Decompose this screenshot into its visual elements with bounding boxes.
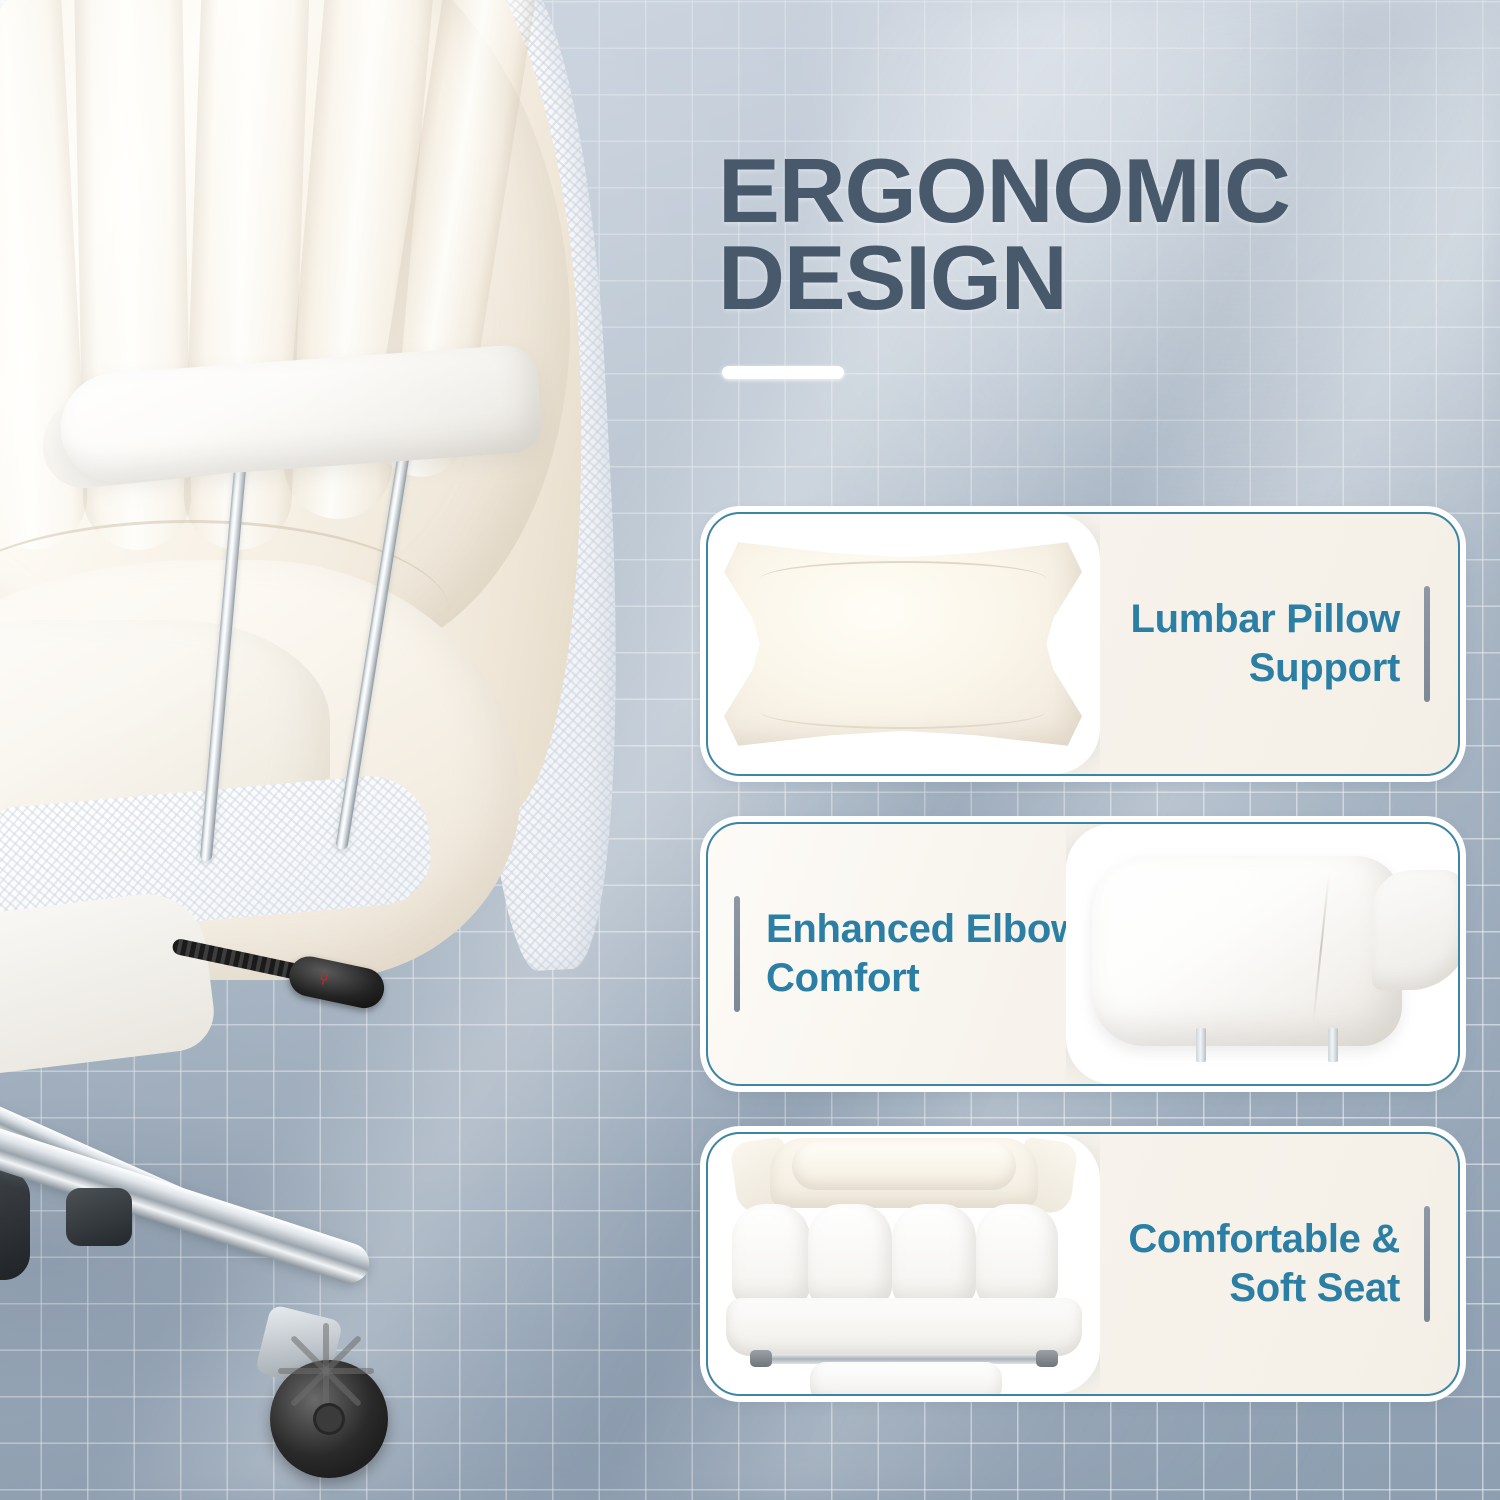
- accent-bar: [1424, 1206, 1430, 1322]
- feature-image-lumbar-pillow: [708, 514, 1100, 774]
- armrest-rear: [1372, 870, 1458, 990]
- seat-cushion: [892, 1204, 976, 1308]
- accent-bar: [734, 896, 740, 1012]
- seat-cushion: [976, 1204, 1058, 1308]
- seat-lumbar-pad: [792, 1142, 1016, 1190]
- product-feature-poster: ⑂ ERGONOMIC DESIGN: [0, 0, 1500, 1500]
- seat-cushion-row: [732, 1204, 1076, 1308]
- feature-title-line-1: Comfortable &: [1128, 1215, 1400, 1264]
- feature-title-line-2: Soft Seat: [1229, 1264, 1400, 1313]
- armrest-post: [1196, 1028, 1206, 1062]
- chair-caster-wheel: [270, 1360, 388, 1478]
- armrest-pad: [1092, 856, 1402, 1046]
- seat-illustration: [718, 1138, 1090, 1390]
- feature-title-line-2: Support: [1249, 644, 1400, 693]
- footrest-rail-end: [1036, 1350, 1058, 1367]
- armrest-post: [1328, 1028, 1338, 1062]
- page-title: ERGONOMIC DESIGN: [718, 148, 1458, 323]
- feature-image-seat: [708, 1134, 1100, 1394]
- footrest-rail-end: [750, 1350, 772, 1367]
- chair-seat-underside: [0, 887, 218, 1092]
- pillow-seam: [760, 561, 1046, 597]
- seat-front-edge: [726, 1298, 1082, 1356]
- feature-title-line-1: Enhanced Elbow: [766, 905, 1082, 954]
- lumbar-pillow-illustration: [724, 538, 1082, 750]
- feature-card-enhanced-elbow-comfort[interactable]: Enhanced Elbow Comfort: [706, 822, 1460, 1086]
- title-underline-rule: [722, 366, 844, 379]
- feature-card-lumbar-pillow-support[interactable]: Lumbar Pillow Support: [706, 512, 1460, 776]
- seat-cushion: [808, 1204, 892, 1308]
- chair-base-joint: [66, 1188, 132, 1246]
- feature-title-line-2: Comfort: [766, 954, 919, 1003]
- feature-card-comfortable-soft-seat[interactable]: Comfortable & Soft Seat: [706, 1132, 1460, 1396]
- feature-title-lumbar-pillow-support: Lumbar Pillow Support: [1070, 514, 1400, 774]
- armrest-illustration: [1084, 850, 1458, 1058]
- feature-title-line-1: Lumbar Pillow: [1131, 595, 1400, 644]
- feature-title-comfortable-soft-seat: Comfortable & Soft Seat: [1070, 1134, 1400, 1394]
- hero-chair-image: ⑂: [0, 0, 710, 1500]
- page-title-line-1: ERGONOMIC: [718, 148, 1473, 235]
- pillow-seam: [760, 693, 1046, 729]
- page-title-line-2: DESIGN: [718, 235, 1473, 322]
- seat-cushion: [732, 1204, 810, 1308]
- accent-bar: [1424, 586, 1430, 702]
- feature-title-enhanced-elbow-comfort: Enhanced Elbow Comfort: [766, 824, 1106, 1084]
- chair-base-hub: [0, 1170, 30, 1280]
- footrest-pad: [810, 1362, 1002, 1394]
- feature-image-armrest: [1066, 824, 1458, 1084]
